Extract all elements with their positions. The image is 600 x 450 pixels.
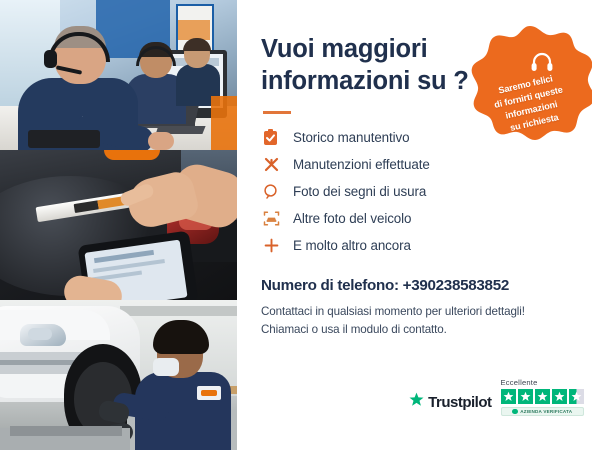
photo-desk-tablet: [28, 130, 100, 148]
call-center-operators-photo: [0, 0, 237, 150]
title-divider: [263, 111, 291, 114]
star-filled-icon: [535, 389, 551, 405]
verified-check-icon: [512, 409, 518, 415]
list-item: Foto dei segni di usura: [263, 180, 578, 203]
star-filled-icon: [552, 389, 568, 405]
content-panel: Vuoi maggiori informazioni su ? Storico …: [237, 0, 600, 450]
verified-label: AZIENDA VERIFICATA: [520, 409, 572, 414]
photo-headlight-inner: [28, 328, 52, 340]
list-item: Manutenzioni effettuate: [263, 153, 578, 176]
list-item: E molto altro ancora: [263, 234, 578, 257]
contact-instructions: Contattaci in qualsiasi momento per ulte…: [261, 303, 578, 340]
list-item-label: Storico manutentivo: [293, 130, 409, 145]
list-item-label: E molto altro ancora: [293, 238, 411, 253]
star-half-icon: [569, 389, 585, 405]
page-title: Vuoi maggiori informazioni su ?: [261, 34, 471, 97]
list-item-label: Altre foto del veicolo: [293, 211, 411, 226]
clipboard-check-icon: [263, 129, 285, 146]
photo-mechanic: [135, 320, 231, 450]
photo-headset-earcup: [44, 50, 57, 68]
vehicle-damage-inspection-photo: [0, 150, 237, 300]
list-item-label: Manutenzioni effettuate: [293, 157, 430, 172]
callout-badge: Saremo felici di fornirti queste informa…: [468, 24, 592, 148]
photo-car-lift-arm: [10, 426, 122, 436]
advertisement-banner: Vuoi maggiori informazioni su ? Storico …: [0, 0, 600, 450]
trustpilot-rating[interactable]: Trustpilot Eccellente: [409, 378, 584, 416]
verified-business-badge: AZIENDA VERIFICATA: [501, 407, 585, 417]
tools-cross-icon: [263, 156, 285, 173]
trustpilot-rating-label: Eccellente: [501, 378, 538, 387]
list-item-label: Foto dei segni di usura: [293, 184, 426, 199]
mechanic-wheel-inspection-photo: [0, 300, 237, 450]
plus-icon: [263, 237, 285, 254]
trustpilot-wordmark: Trustpilot: [428, 394, 491, 411]
phone-number: Numero di telefono: +390238583852: [261, 277, 578, 294]
trustpilot-stars: [501, 389, 585, 405]
magnifier-icon: [263, 183, 285, 200]
star-filled-icon: [501, 389, 517, 405]
trustpilot-score-block: Eccellente: [501, 378, 585, 416]
photo-ceiling-beam: [120, 306, 237, 316]
photo-column: [0, 0, 237, 450]
car-scan-icon: [263, 210, 285, 227]
trustpilot-star-icon: [409, 392, 424, 412]
photo-face-mask: [153, 358, 179, 376]
photo-poster-inner: [178, 20, 210, 40]
photo-uniform-logo-mark: [201, 390, 217, 396]
photo-orange-accent: [104, 150, 160, 160]
list-item: Altre foto del veicolo: [263, 207, 578, 230]
contact-line-2: Chiamaci o usa il modulo di contatto.: [261, 321, 578, 339]
trustpilot-logo: Trustpilot: [409, 392, 491, 416]
star-filled-icon: [518, 389, 534, 405]
photo-hair: [153, 320, 209, 354]
photo-operator-third: [176, 40, 220, 96]
photo-orange-accent: [211, 96, 237, 150]
photo-hand: [148, 132, 174, 150]
contact-line-1: Contattaci in qualsiasi momento per ulte…: [261, 303, 578, 321]
photo-hair: [183, 38, 211, 51]
